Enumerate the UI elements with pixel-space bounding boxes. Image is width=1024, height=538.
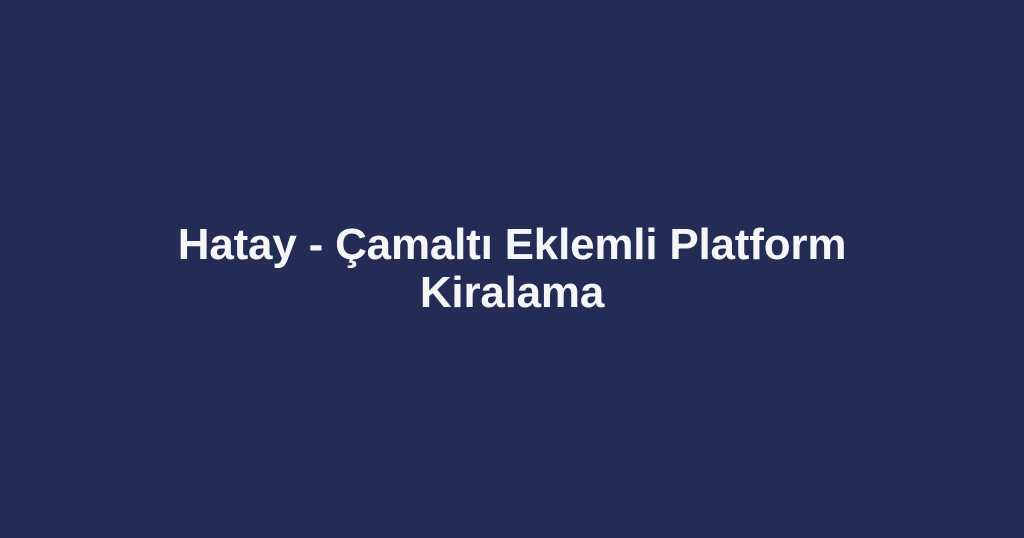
page-title: Hatay - Çamaltı Eklemli Platform Kiralam…: [142, 221, 882, 317]
card-content: Hatay - Çamaltı Eklemli Platform Kiralam…: [142, 221, 882, 317]
share-card: Hatay - Çamaltı Eklemli Platform Kiralam…: [0, 0, 1024, 538]
